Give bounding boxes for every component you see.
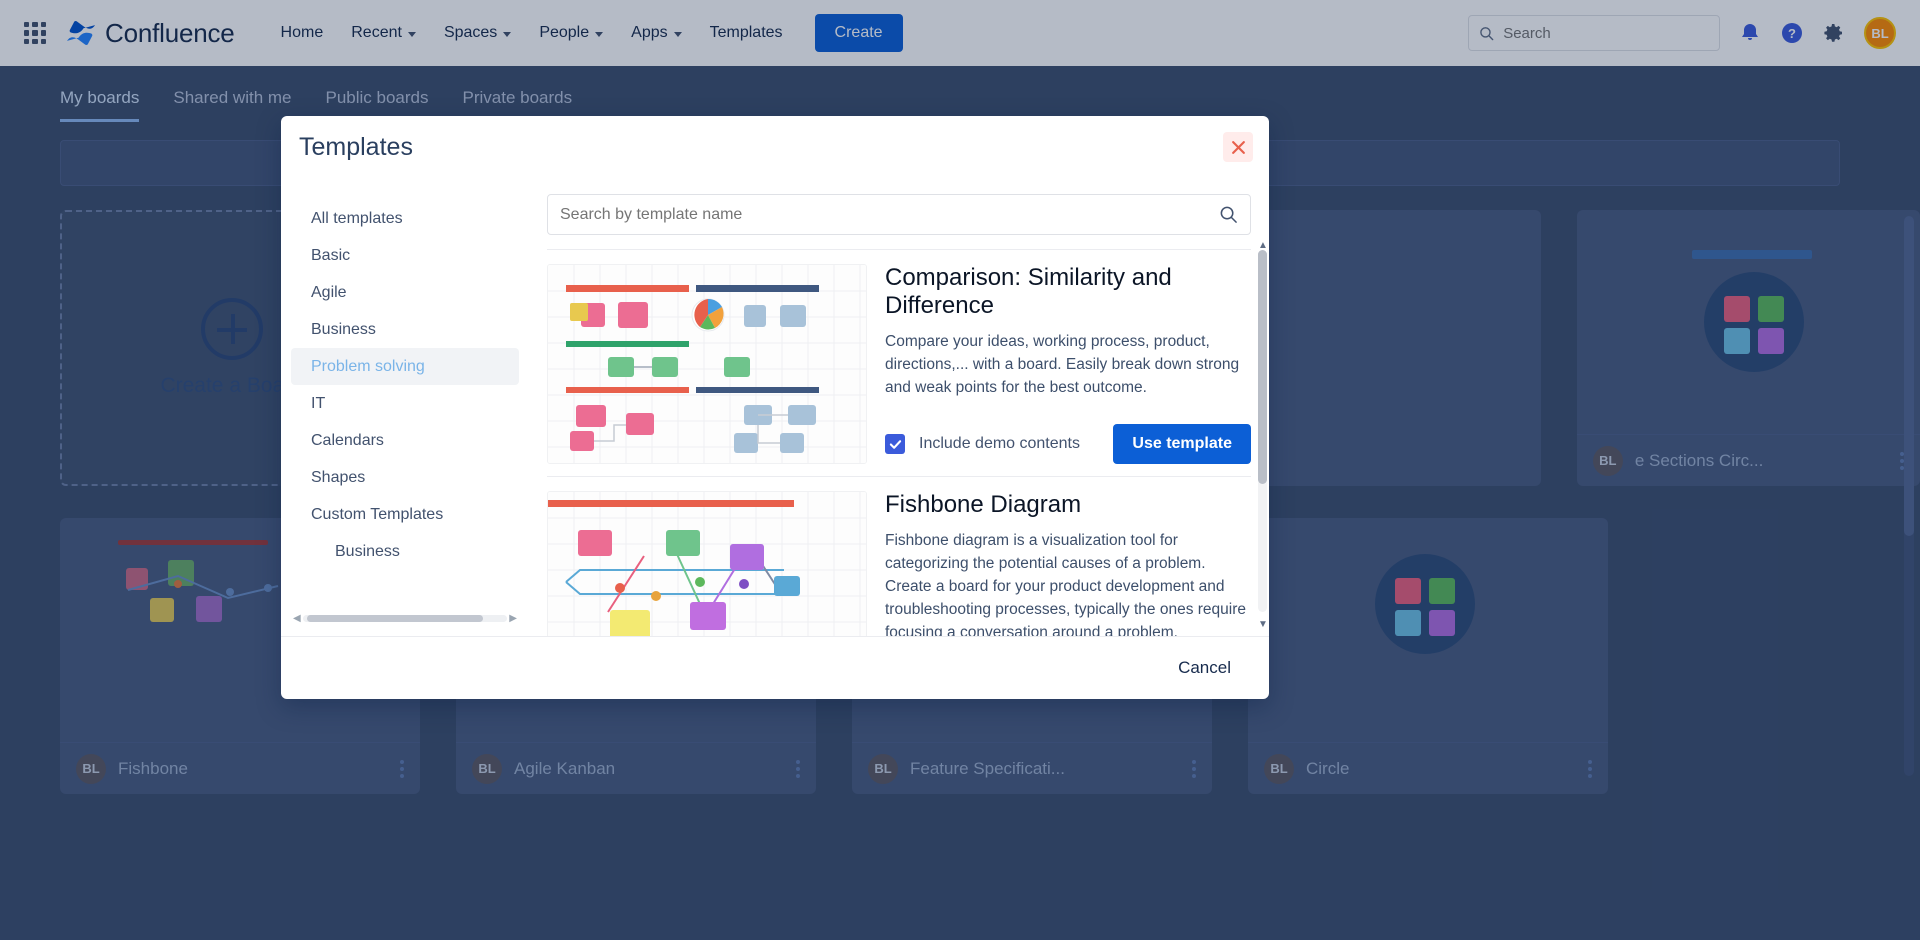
template-description: Compare your ideas, working process, pro… — [885, 330, 1251, 399]
template-info: Fishbone Diagram Fishbone diagram is a v… — [885, 491, 1251, 636]
category-label: IT — [311, 395, 325, 413]
category-item-custom-templates[interactable]: Custom Templates — [291, 496, 519, 533]
template-search-input[interactable] — [560, 206, 1211, 224]
template-categories-pane: All templates Basic Agile Business Probl… — [281, 178, 529, 636]
category-label: Problem solving — [311, 358, 425, 376]
template-description: Fishbone diagram is a visualization tool… — [885, 529, 1251, 636]
category-item-shapes[interactable]: Shapes — [291, 459, 519, 496]
dialog-title: Templates — [299, 133, 413, 162]
template-name: Fishbone Diagram — [885, 491, 1251, 519]
template-thumbnail — [547, 264, 867, 464]
dialog-body: All templates Basic Agile Business Probl… — [281, 178, 1269, 636]
dialog-header: Templates — [281, 116, 1269, 178]
category-item-business[interactable]: Business — [291, 311, 519, 348]
include-demo-contents-label: Include demo contents — [919, 435, 1080, 453]
category-label: Shapes — [311, 469, 365, 487]
category-item-basic[interactable]: Basic — [291, 237, 519, 274]
templates-vertical-scrollbar[interactable] — [1258, 250, 1267, 612]
scroll-right-icon[interactable]: ▶ — [509, 613, 517, 624]
template-actions: Include demo contents Use template — [885, 408, 1251, 464]
scrollbar-thumb[interactable] — [1258, 250, 1267, 484]
dialog-footer: Cancel — [281, 637, 1269, 699]
scroll-down-icon[interactable]: ▼ — [1257, 619, 1269, 630]
category-item-custom-business[interactable]: Business — [291, 533, 519, 570]
category-item-calendars[interactable]: Calendars — [291, 422, 519, 459]
close-icon[interactable] — [1223, 132, 1253, 162]
templates-dialog: Templates All templates Basic Agile Busi… — [281, 116, 1269, 699]
template-search-box[interactable] — [547, 194, 1251, 235]
template-card[interactable]: Fishbone Diagram Fishbone diagram is a v… — [547, 476, 1251, 636]
templates-scroll-area[interactable]: Comparison: Similarity and Difference Co… — [547, 249, 1251, 636]
template-categories-list: All templates Basic Agile Business Probl… — [281, 200, 529, 602]
template-thumbnail — [547, 491, 867, 636]
category-item-problem-solving[interactable]: Problem solving — [291, 348, 519, 385]
checkbox-checked-icon — [885, 434, 905, 454]
category-item-it[interactable]: IT — [291, 385, 519, 422]
use-template-button[interactable]: Use template — [1113, 424, 1251, 464]
category-label: Basic — [311, 247, 350, 265]
search-icon — [1219, 205, 1238, 224]
scroll-up-icon[interactable]: ▲ — [1257, 240, 1269, 251]
category-label: Custom Templates — [311, 506, 443, 524]
template-name: Comparison: Similarity and Difference — [885, 264, 1251, 320]
template-info: Comparison: Similarity and Difference Co… — [885, 264, 1251, 464]
category-label: All templates — [311, 210, 403, 228]
templates-pane: Comparison: Similarity and Difference Co… — [529, 178, 1269, 636]
category-item-all-templates[interactable]: All templates — [291, 200, 519, 237]
template-card[interactable]: Comparison: Similarity and Difference Co… — [547, 250, 1251, 464]
scrollbar-thumb[interactable] — [307, 615, 483, 622]
cancel-button[interactable]: Cancel — [1166, 650, 1243, 686]
scroll-left-icon[interactable]: ◀ — [293, 613, 301, 624]
categories-horizontal-scrollbar[interactable]: ◀ ▶ — [293, 610, 517, 626]
category-label: Business — [335, 543, 400, 561]
category-label: Business — [311, 321, 376, 339]
category-item-agile[interactable]: Agile — [291, 274, 519, 311]
category-label: Calendars — [311, 432, 384, 450]
include-demo-contents-checkbox[interactable]: Include demo contents — [885, 434, 1080, 454]
category-label: Agile — [311, 284, 347, 302]
